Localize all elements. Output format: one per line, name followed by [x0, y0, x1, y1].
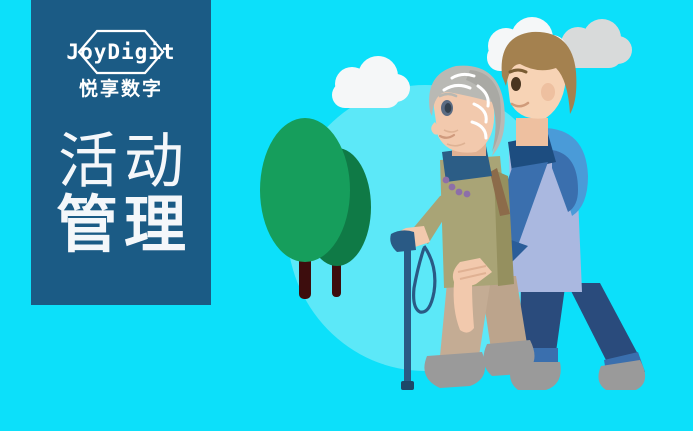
- poster-canvas: JoyDigit 悦享数字 活动 管理: [0, 0, 693, 431]
- man-eye: [511, 77, 521, 91]
- joydigit-logo: JoyDigit: [53, 28, 189, 76]
- headline-block: 活动 管理: [31, 131, 211, 257]
- headline-line-2: 管理: [50, 194, 192, 257]
- logo-wordmark: JoyDigit: [53, 28, 189, 76]
- woman-pupil: [445, 103, 452, 113]
- headline-line-1: 活动: [52, 131, 190, 192]
- cane-shaft: [404, 248, 411, 386]
- man-ear: [541, 83, 555, 101]
- woman-far-shoe: [483, 340, 534, 376]
- woman-near-shoe: [424, 352, 485, 388]
- brand-panel: JoyDigit 悦享数字 活动 管理: [31, 0, 211, 305]
- cane-tip: [401, 381, 414, 390]
- logo-block: JoyDigit 悦享数字: [31, 28, 211, 99]
- cane-handle: [390, 230, 416, 252]
- man-neck: [516, 118, 548, 146]
- company-name-cn: 悦享数字: [79, 80, 163, 99]
